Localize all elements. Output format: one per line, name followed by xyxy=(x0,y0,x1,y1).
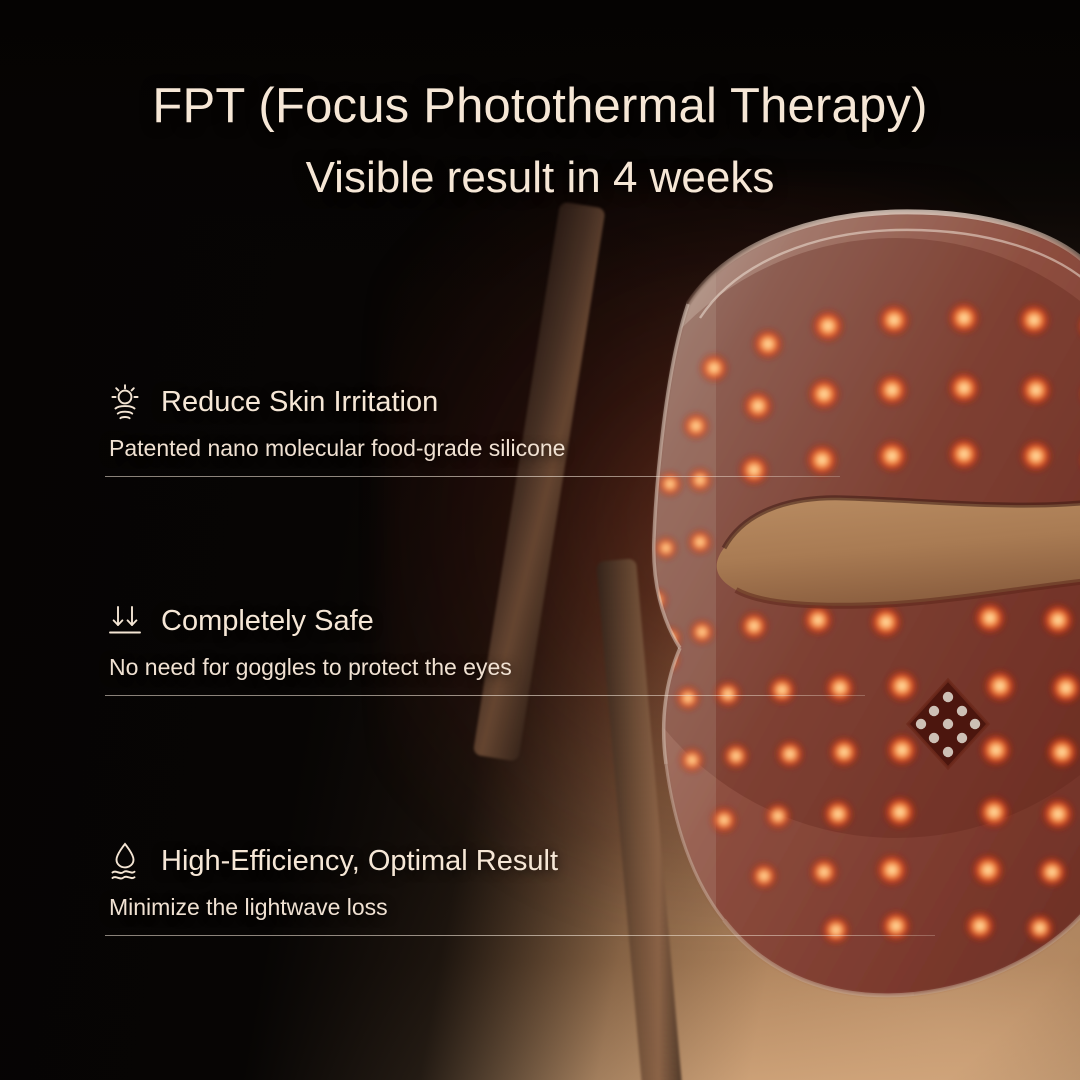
double-down-arrow-icon xyxy=(105,600,145,642)
feature-title: Reduce Skin Irritation xyxy=(161,386,438,419)
feature-title: Completely Safe xyxy=(161,605,374,638)
droplet-waves-icon xyxy=(105,840,145,882)
feature-divider xyxy=(105,695,865,696)
feature-item-completely-safe: Completely Safe No need for goggles to p… xyxy=(105,600,1045,696)
feature-heading-row: High-Efficiency, Optimal Result xyxy=(105,840,1045,882)
product-feature-poster: FPT (Focus Photothermal Therapy) Visible… xyxy=(0,0,1080,1080)
feature-subtitle: Minimize the lightwave loss xyxy=(109,894,1045,921)
feature-heading-row: Completely Safe xyxy=(105,600,1045,642)
feature-subtitle: No need for goggles to protect the eyes xyxy=(109,654,1045,681)
sun-waves-icon xyxy=(105,381,145,423)
feature-item-reduce-skin-irritation: Reduce Skin Irritation Patented nano mol… xyxy=(105,381,1045,477)
eye-cutout xyxy=(717,498,1080,606)
feature-item-high-efficiency: High-Efficiency, Optimal Result Minimize… xyxy=(105,840,1045,936)
feature-heading-row: Reduce Skin Irritation xyxy=(105,381,1045,423)
feature-divider xyxy=(105,476,840,477)
feature-divider xyxy=(105,935,935,936)
feature-title: High-Efficiency, Optimal Result xyxy=(161,845,558,878)
feature-subtitle: Patented nano molecular food-grade silic… xyxy=(109,435,1045,462)
